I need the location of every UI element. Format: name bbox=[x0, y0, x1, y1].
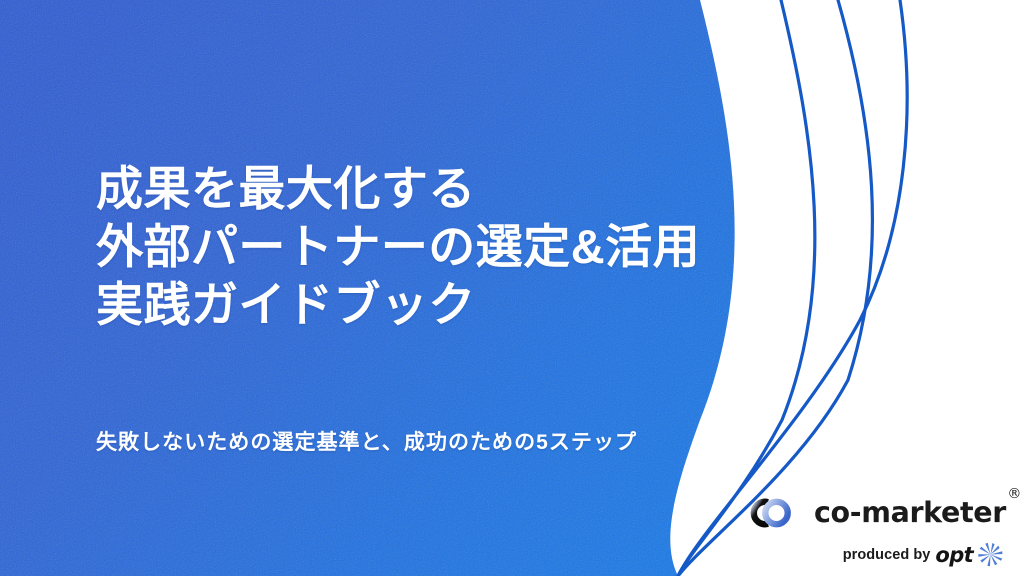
headline-line-3: 実践ガイドブック bbox=[96, 276, 756, 334]
produced-by-label: produced by bbox=[843, 547, 931, 563]
headline-line-1: 成果を最大化する bbox=[96, 160, 756, 218]
logo-wordmark-text: co-marketer bbox=[814, 496, 1006, 529]
produced-by-row: produced by opt bbox=[743, 541, 1006, 568]
logo-lockup: co-marketer ® produced by opt bbox=[743, 492, 1006, 568]
logo-wordmark: co-marketer ® bbox=[814, 499, 1006, 528]
opt-starburst-icon bbox=[977, 541, 1004, 568]
headline-block: 成果を最大化する 外部パートナーの選定&活用 実践ガイドブック bbox=[96, 160, 756, 334]
headline-line-2: 外部パートナーの選定&活用 bbox=[96, 218, 756, 276]
subheadline: 失敗しないための選定基準と、成功のための5ステップ bbox=[96, 428, 637, 458]
opt-wordmark: opt bbox=[935, 543, 973, 567]
registered-trademark-icon: ® bbox=[1007, 487, 1021, 501]
title-slide: 成果を最大化する 外部パートナーの選定&活用 実践ガイドブック 失敗しないための… bbox=[0, 0, 1024, 576]
co-mark-icon bbox=[743, 496, 801, 530]
brand-row: co-marketer ® bbox=[743, 492, 1006, 534]
